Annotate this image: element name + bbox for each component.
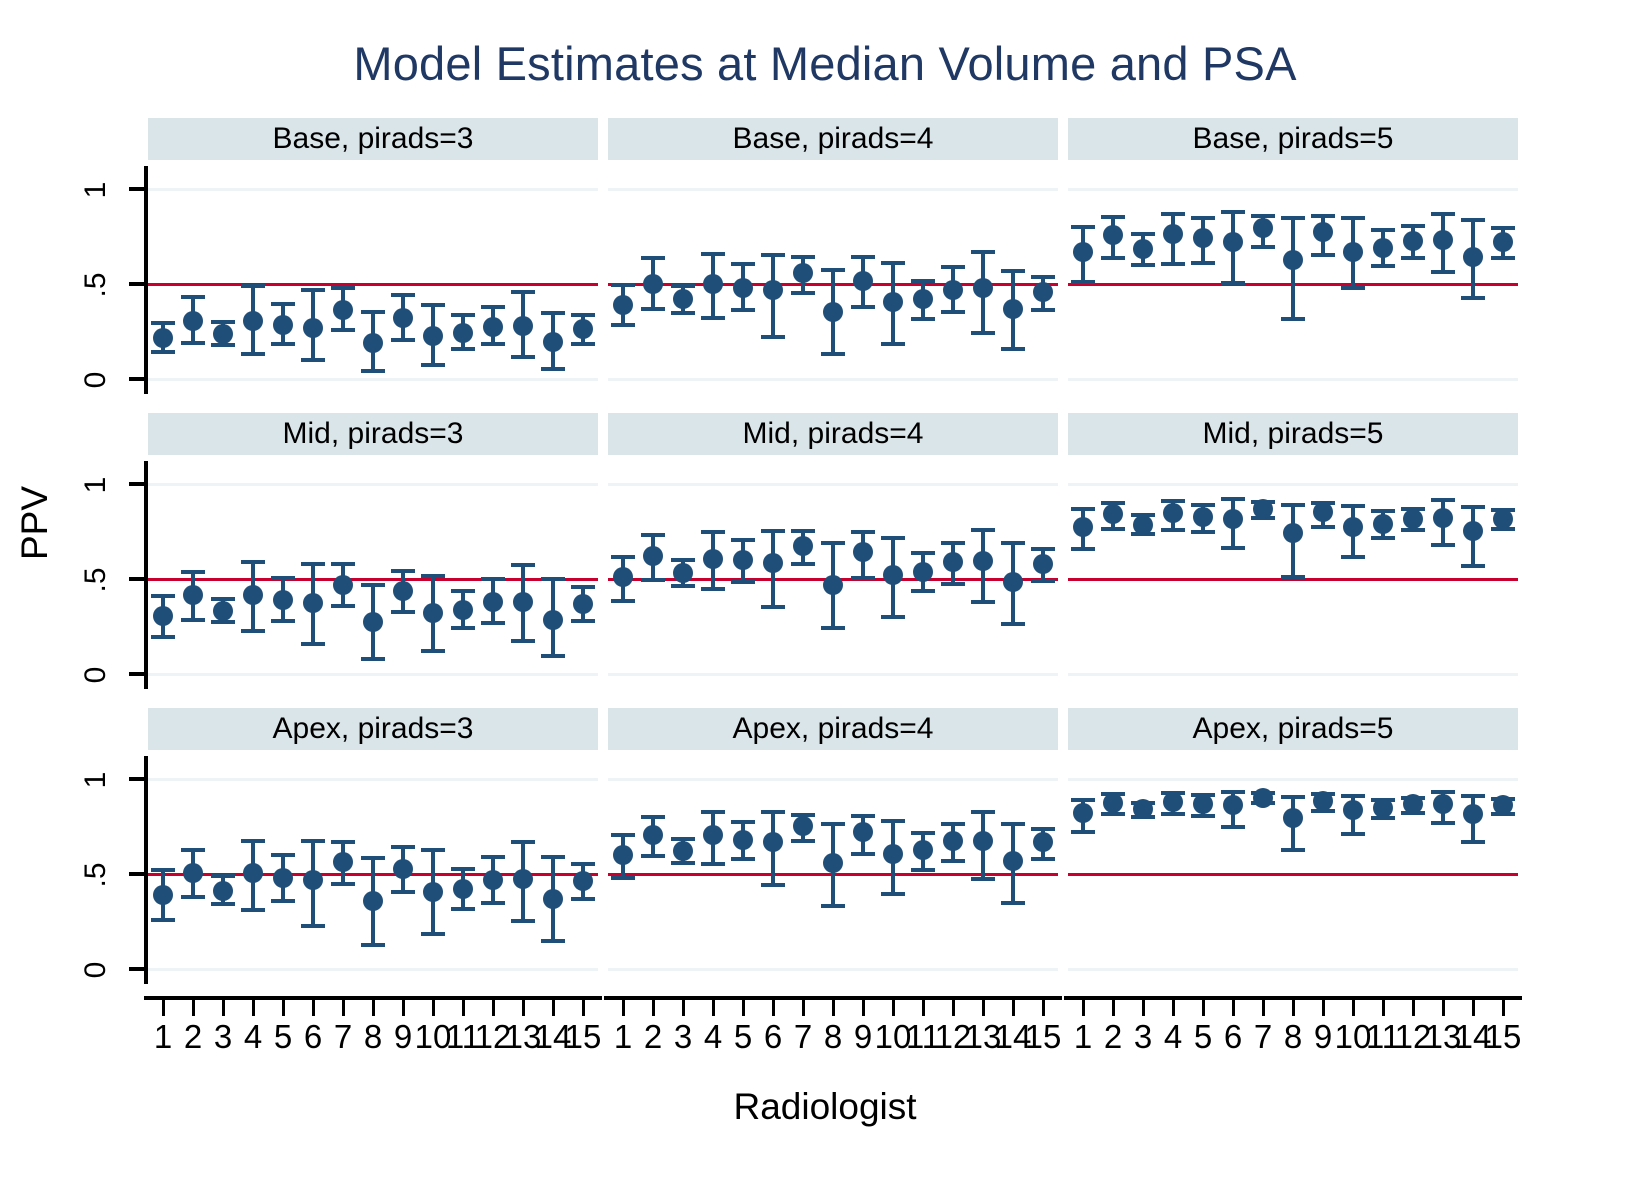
panel-base-pirads-5: Base, pirads=5 xyxy=(1068,118,1518,402)
error-bar-cap-upper xyxy=(571,313,595,317)
error-bar-cap-lower xyxy=(1221,546,1245,550)
plot-area xyxy=(1068,756,1518,984)
error-bar-cap-upper xyxy=(1031,275,1055,279)
point-marker xyxy=(1133,239,1153,259)
error-bar-cap-lower xyxy=(271,899,295,903)
error-bar-cap-upper xyxy=(641,256,665,260)
x-axis-tick xyxy=(832,1000,835,1016)
point-marker xyxy=(303,593,323,613)
error-bar-cap-upper xyxy=(301,288,325,292)
x-axis-tick xyxy=(1232,1000,1235,1016)
error-bar-cap-upper xyxy=(1001,269,1025,273)
error-bar-cap-lower xyxy=(1071,830,1095,834)
gridline xyxy=(148,483,598,486)
error-bar-cap-upper xyxy=(941,265,965,269)
point-marker xyxy=(1283,250,1303,270)
error-bar-cap-upper xyxy=(421,303,445,307)
error-bar-cap-upper xyxy=(641,533,665,537)
point-marker xyxy=(363,333,383,353)
gridline xyxy=(148,968,598,971)
x-axis-tick xyxy=(742,1000,745,1016)
gridline xyxy=(1068,673,1518,676)
error-bar-cap-upper xyxy=(1281,216,1305,220)
error-bar-cap-lower xyxy=(421,932,445,936)
error-bar-cap-upper xyxy=(271,302,295,306)
error-bar-cap-lower xyxy=(1371,536,1395,540)
error-bar-cap-lower xyxy=(571,619,595,623)
error-bar-cap-lower xyxy=(1161,262,1185,266)
error-bar-cap-lower xyxy=(301,642,325,646)
error-bar-cap-lower xyxy=(821,626,845,630)
error-bar-cap-upper xyxy=(151,321,175,325)
x-axis-tick xyxy=(622,1000,625,1016)
point-marker xyxy=(1033,554,1053,574)
error-bar-cap-upper xyxy=(1281,503,1305,507)
error-bar-cap-upper xyxy=(701,252,725,256)
error-bar-cap-lower xyxy=(331,328,355,332)
error-bar-cap-upper xyxy=(1311,214,1335,218)
panel-strip-label: Base, pirads=4 xyxy=(608,118,1058,160)
point-marker xyxy=(1133,515,1153,535)
error-bar-cap-upper xyxy=(881,261,905,265)
error-bar-cap-lower xyxy=(941,582,965,586)
gridline xyxy=(1068,968,1518,971)
panel-mid-pirads-5: Mid, pirads=5 xyxy=(1068,413,1518,697)
point-marker xyxy=(513,869,533,889)
x-axis-tick xyxy=(952,1000,955,1016)
error-bar-cap-lower xyxy=(851,576,875,580)
error-bar-cap-upper xyxy=(761,253,785,257)
error-bar-cap-upper xyxy=(331,562,355,566)
error-bar-cap-lower xyxy=(1401,256,1425,260)
point-marker xyxy=(673,289,693,309)
x-axis-tick xyxy=(402,1000,405,1016)
gridline xyxy=(608,483,1058,486)
error-bar-cap-lower xyxy=(391,890,415,894)
reference-line xyxy=(148,283,598,286)
error-bar-cap-upper xyxy=(971,250,995,254)
error-bar-cap-lower xyxy=(481,342,505,346)
error-bar-cap-lower xyxy=(361,657,385,661)
x-axis-tick xyxy=(522,1000,525,1016)
error-bar-cap-upper xyxy=(1461,505,1485,509)
reference-line xyxy=(148,578,598,581)
error-bar-cap-upper xyxy=(911,279,935,283)
panel-apex-pirads-3: Apex, pirads=3 xyxy=(148,708,598,992)
error-bar-cap-lower xyxy=(151,918,175,922)
error-bar-cap-upper xyxy=(1341,794,1365,798)
error-bar-cap-lower xyxy=(731,857,755,861)
gridline xyxy=(148,673,598,676)
error-bar-cap-lower xyxy=(1001,901,1025,905)
error-bar-cap-upper xyxy=(761,529,785,533)
error-bar-cap-lower xyxy=(1461,840,1485,844)
error-bar-cap-lower xyxy=(181,618,205,622)
panel-mid-pirads-3: Mid, pirads=3 xyxy=(148,413,598,697)
error-bar-cap-lower xyxy=(1031,857,1055,861)
error-bar-cap-lower xyxy=(1101,527,1125,531)
plot-area xyxy=(608,461,1058,689)
point-marker xyxy=(1343,242,1363,262)
panel-mid-pirads-4: Mid, pirads=4 xyxy=(608,413,1058,697)
error-bar-cap-lower xyxy=(1101,256,1125,260)
error-bar-cap-upper xyxy=(1001,541,1025,545)
point-marker xyxy=(1193,507,1213,527)
error-bar-cap-lower xyxy=(701,862,725,866)
error-bar-cap-lower xyxy=(971,331,995,335)
y-axis-tick xyxy=(129,377,144,381)
error-bar-cap-upper xyxy=(701,530,725,534)
gridline xyxy=(1068,378,1518,381)
error-bar-cap-upper xyxy=(1191,216,1215,220)
point-marker xyxy=(423,882,443,902)
error-bar-cap-lower xyxy=(1311,525,1335,529)
point-marker xyxy=(1373,514,1393,534)
point-marker xyxy=(543,332,563,352)
point-marker xyxy=(483,870,503,890)
error-bar-cap-upper xyxy=(1461,218,1485,222)
error-bar-cap-lower xyxy=(511,355,535,359)
panel-strip-label: Mid, pirads=4 xyxy=(608,413,1058,455)
error-bar-cap-lower xyxy=(391,610,415,614)
error-bar-cap-lower xyxy=(1461,564,1485,568)
error-bar-cap-lower xyxy=(701,316,725,320)
error-bar-cap-lower xyxy=(331,882,355,886)
point-marker xyxy=(1003,851,1023,871)
point-marker xyxy=(703,549,723,569)
error-bar-cap-upper xyxy=(911,551,935,555)
plot-area xyxy=(1068,166,1518,394)
error-bar-cap-upper xyxy=(451,867,475,871)
error-bar-cap-lower xyxy=(151,350,175,354)
point-marker xyxy=(543,889,563,909)
point-marker xyxy=(213,881,233,901)
point-marker xyxy=(613,295,633,315)
point-marker xyxy=(1343,800,1363,820)
point-marker xyxy=(1033,832,1053,852)
error-bar-cap-upper xyxy=(1031,827,1055,831)
x-axis-tick xyxy=(1292,1000,1295,1016)
error-bar-cap-upper xyxy=(791,255,815,259)
error-bar-cap-lower xyxy=(1221,281,1245,285)
error-bar-cap-lower xyxy=(571,897,595,901)
point-marker xyxy=(513,316,533,336)
error-bar-cap-lower xyxy=(1311,253,1335,257)
error-bar-cap-lower xyxy=(791,291,815,295)
error-bar-cap-lower xyxy=(1341,555,1365,559)
point-marker xyxy=(973,551,993,571)
error-bar-cap-lower xyxy=(241,352,265,356)
x-axis-tick xyxy=(282,1000,285,1016)
y-axis-tick xyxy=(129,482,144,486)
point-marker xyxy=(423,326,443,346)
panel-strip-label: Base, pirads=5 xyxy=(1068,118,1518,160)
point-marker xyxy=(513,592,533,612)
error-bar-cap-lower xyxy=(211,902,235,906)
x-axis-tick xyxy=(462,1000,465,1016)
point-marker xyxy=(973,278,993,298)
x-axis-tick xyxy=(222,1000,225,1016)
point-marker xyxy=(303,870,323,890)
gridline xyxy=(1068,778,1518,781)
error-bar-cap-upper xyxy=(541,311,565,315)
error-bar-cap-lower xyxy=(271,619,295,623)
error-bar-cap-lower xyxy=(941,859,965,863)
x-axis-tick xyxy=(772,1000,775,1016)
error-bar-cap-lower xyxy=(361,943,385,947)
error-bar-cap-upper xyxy=(181,848,205,852)
point-marker xyxy=(1283,523,1303,543)
point-marker xyxy=(1223,232,1243,252)
x-axis-tick xyxy=(582,1000,585,1016)
error-bar-cap-lower xyxy=(1341,832,1365,836)
error-bar-cap-upper xyxy=(1001,822,1025,826)
y-axis-tick-label: .5 xyxy=(79,560,113,600)
error-bar-cap-upper xyxy=(301,839,325,843)
error-bar-cap-lower xyxy=(1281,317,1305,321)
error-bar-cap-upper xyxy=(971,810,995,814)
y-axis-tick xyxy=(129,577,144,581)
x-axis-tick xyxy=(1412,1000,1415,1016)
error-bar-cap-upper xyxy=(511,840,535,844)
x-axis-tick xyxy=(1352,1000,1355,1016)
error-bar-cap-lower xyxy=(611,876,635,880)
error-bar-cap-upper xyxy=(1281,795,1305,799)
error-bar-cap-lower xyxy=(821,904,845,908)
error-bar-cap-lower xyxy=(1251,245,1275,249)
error-bar-cap-upper xyxy=(541,855,565,859)
error-bar-cap-lower xyxy=(1001,347,1025,351)
error-bar-cap-upper xyxy=(1221,790,1245,794)
error-bar-cap-lower xyxy=(1281,575,1305,579)
y-axis-tick xyxy=(129,187,144,191)
error-bar-cap-upper xyxy=(1491,226,1515,230)
y-axis-tick-label: 0 xyxy=(79,950,113,990)
x-axis-tick xyxy=(682,1000,685,1016)
chart-root: Model Estimates at Median Volume and PSA… xyxy=(0,0,1650,1200)
error-bar-cap-upper xyxy=(361,310,385,314)
point-marker xyxy=(483,592,503,612)
error-bar-cap-upper xyxy=(1341,504,1365,508)
point-marker xyxy=(453,600,473,620)
x-axis-tick xyxy=(492,1000,495,1016)
error-bar-cap-upper xyxy=(511,563,535,567)
error-bar-cap-upper xyxy=(1221,497,1245,501)
y-axis-line xyxy=(144,166,148,394)
point-marker xyxy=(213,601,233,621)
error-bar-cap-upper xyxy=(1431,212,1455,216)
x-axis-tick xyxy=(652,1000,655,1016)
point-marker xyxy=(1433,508,1453,528)
point-marker xyxy=(853,271,873,291)
gridline xyxy=(1068,188,1518,191)
x-axis-tick xyxy=(1142,1000,1145,1016)
error-bar-cap-upper xyxy=(1371,509,1395,513)
error-bar-cap-upper xyxy=(391,569,415,573)
error-bar-cap-lower xyxy=(641,854,665,858)
y-axis-tick xyxy=(129,777,144,781)
x-axis-tick xyxy=(862,1000,865,1016)
point-marker xyxy=(1103,504,1123,524)
point-marker xyxy=(643,825,663,845)
error-bar-cap-upper xyxy=(851,255,875,259)
gridline xyxy=(1068,483,1518,486)
error-bar-cap-lower xyxy=(671,584,695,588)
point-marker xyxy=(643,546,663,566)
point-marker xyxy=(883,292,903,312)
error-bar-cap-upper xyxy=(481,577,505,581)
error-bar-cap-lower xyxy=(151,635,175,639)
error-bar-cap-upper xyxy=(821,822,845,826)
error-bar-cap-lower xyxy=(481,901,505,905)
error-bar-cap-upper xyxy=(181,570,205,574)
error-bar-cap-upper xyxy=(1101,215,1125,219)
point-marker xyxy=(1073,803,1093,823)
point-marker xyxy=(1433,794,1453,814)
point-marker xyxy=(673,841,693,861)
error-bar-cap-lower xyxy=(851,305,875,309)
point-marker xyxy=(1163,503,1183,523)
point-marker xyxy=(943,552,963,572)
panel-strip-label: Apex, pirads=4 xyxy=(608,708,1058,750)
point-marker xyxy=(273,590,293,610)
error-bar-cap-lower xyxy=(241,629,265,633)
point-marker xyxy=(393,308,413,328)
point-marker xyxy=(1343,517,1363,537)
error-bar-cap-lower xyxy=(1431,270,1455,274)
error-bar-cap-upper xyxy=(1341,216,1365,220)
point-marker xyxy=(363,891,383,911)
point-marker xyxy=(763,553,783,573)
error-bar-cap-upper xyxy=(421,848,445,852)
error-bar-cap-lower xyxy=(421,649,445,653)
point-marker xyxy=(853,542,873,562)
error-bar-cap-lower xyxy=(541,939,565,943)
error-bar-cap-lower xyxy=(821,352,845,356)
point-marker xyxy=(213,324,233,344)
point-marker xyxy=(793,536,813,556)
error-bar-cap-upper xyxy=(451,313,475,317)
error-bar-cap-lower xyxy=(1161,528,1185,532)
error-bar-cap-lower xyxy=(641,578,665,582)
error-bar-cap-upper xyxy=(611,833,635,837)
point-marker xyxy=(243,585,263,605)
point-marker xyxy=(973,831,993,851)
y-axis-tick xyxy=(129,967,144,971)
x-axis-tick xyxy=(1042,1000,1045,1016)
point-marker xyxy=(1313,791,1333,811)
error-bar-cap-lower xyxy=(791,839,815,843)
error-bar-cap-lower xyxy=(761,335,785,339)
error-bar-cap-upper xyxy=(731,538,755,542)
x-axis-tick xyxy=(712,1000,715,1016)
error-bar-cap-upper xyxy=(1071,507,1095,511)
point-marker xyxy=(943,280,963,300)
point-marker xyxy=(883,565,903,585)
error-bar-cap-upper xyxy=(241,284,265,288)
point-marker xyxy=(363,612,383,632)
error-bar-cap-upper xyxy=(611,555,635,559)
error-bar-cap-upper xyxy=(671,284,695,288)
y-axis-tick-label: 0 xyxy=(79,655,113,695)
x-axis-tick-label: 15 xyxy=(563,1018,603,1056)
error-bar-cap-upper xyxy=(881,536,905,540)
reference-line xyxy=(1068,873,1518,876)
y-axis-line xyxy=(144,461,148,689)
x-axis-tick-label: 15 xyxy=(1483,1018,1523,1056)
error-bar-cap-lower xyxy=(1461,296,1485,300)
point-marker xyxy=(183,863,203,883)
x-axis-tick xyxy=(1012,1000,1015,1016)
point-marker xyxy=(1463,521,1483,541)
error-bar-cap-upper xyxy=(511,290,535,294)
panel-strip-label: Apex, pirads=5 xyxy=(1068,708,1518,750)
error-bar-cap-lower xyxy=(541,367,565,371)
x-axis-tick xyxy=(1472,1000,1475,1016)
panel-strip-label: Base, pirads=3 xyxy=(148,118,598,160)
gridline xyxy=(608,188,1058,191)
error-bar-cap-lower xyxy=(1071,280,1095,284)
point-marker xyxy=(393,859,413,879)
error-bar-cap-upper xyxy=(611,283,635,287)
error-bar-cap-lower xyxy=(971,877,995,881)
error-bar-cap-upper xyxy=(971,528,995,532)
point-marker xyxy=(1313,222,1333,242)
error-bar-cap-lower xyxy=(1221,825,1245,829)
point-marker xyxy=(913,289,933,309)
error-bar-cap-lower xyxy=(1371,264,1395,268)
point-marker xyxy=(1493,509,1513,529)
error-bar-cap-lower xyxy=(1431,543,1455,547)
error-bar-cap-upper xyxy=(1221,210,1245,214)
error-bar-cap-lower xyxy=(511,639,535,643)
error-bar-cap-lower xyxy=(1191,530,1215,534)
point-marker xyxy=(733,550,753,570)
point-marker xyxy=(1193,228,1213,248)
point-marker xyxy=(1373,238,1393,258)
error-bar-cap-upper xyxy=(151,868,175,872)
point-marker xyxy=(1253,788,1273,808)
panel-base-pirads-3: Base, pirads=3 xyxy=(148,118,598,402)
y-axis-tick-label: 0 xyxy=(79,360,113,400)
error-bar-cap-upper xyxy=(821,541,845,545)
x-axis-tick xyxy=(1082,1000,1085,1016)
error-bar-cap-upper xyxy=(211,874,235,878)
error-bar-cap-lower xyxy=(911,868,935,872)
x-axis-tick xyxy=(372,1000,375,1016)
error-bar-cap-lower xyxy=(1431,821,1455,825)
error-bar-cap-lower xyxy=(881,615,905,619)
error-bar-cap-upper xyxy=(671,558,695,562)
error-bar-cap-lower xyxy=(701,587,725,591)
error-bar-cap-upper xyxy=(731,262,755,266)
error-bar-cap-lower xyxy=(481,621,505,625)
x-axis-tick xyxy=(552,1000,555,1016)
point-marker xyxy=(1223,509,1243,529)
error-bar-cap-lower xyxy=(451,907,475,911)
x-axis-tick xyxy=(1502,1000,1505,1016)
error-bar-cap-lower xyxy=(761,605,785,609)
error-bar-cap-upper xyxy=(1401,224,1425,228)
point-marker xyxy=(793,816,813,836)
point-marker xyxy=(1493,232,1513,252)
error-bar-cap-upper xyxy=(881,819,905,823)
error-bar-cap-upper xyxy=(701,810,725,814)
error-bar-cap-upper xyxy=(361,856,385,860)
error-bar-cap-lower xyxy=(181,895,205,899)
error-bar-cap-upper xyxy=(1251,214,1275,218)
x-axis-tick xyxy=(922,1000,925,1016)
